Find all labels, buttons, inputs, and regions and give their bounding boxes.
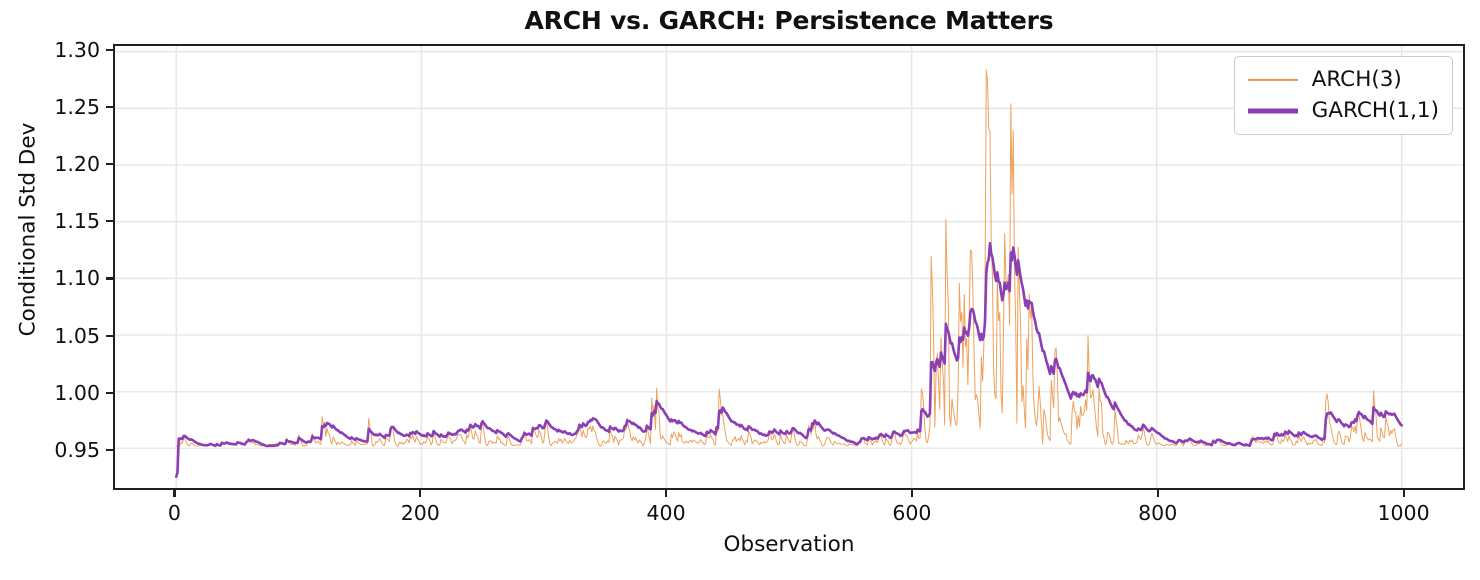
x-tick-label: 1000 <box>1344 503 1464 524</box>
x-tick-label: 800 <box>1098 503 1218 524</box>
chart-legend[interactable]: ARCH(3) GARCH(1,1) <box>1234 56 1453 135</box>
x-tick-label: 200 <box>360 503 480 524</box>
x-tick-label: 0 <box>114 503 234 524</box>
y-tick-label: 1.10 <box>8 268 100 289</box>
y-tick-mark <box>106 106 113 108</box>
x-tick-mark <box>911 490 913 497</box>
legend-swatch-garch <box>1248 104 1298 118</box>
y-tick-label: 1.30 <box>8 40 100 61</box>
y-tick-mark <box>106 49 113 51</box>
y-tick-label: 1.00 <box>8 383 100 404</box>
y-tick-label: 1.20 <box>8 154 100 175</box>
y-tick-label: 1.05 <box>8 326 100 347</box>
legend-item-garch[interactable]: GARCH(1,1) <box>1248 95 1439 126</box>
plot-area: ARCH(3) GARCH(1,1) <box>113 44 1465 490</box>
chart-title: ARCH vs. GARCH: Persistence Matters <box>113 6 1465 35</box>
x-tick-mark <box>173 490 175 497</box>
series-line-arch <box>176 70 1401 446</box>
x-axis-label: Observation <box>113 532 1465 557</box>
y-tick-mark <box>106 220 113 222</box>
legend-label-garch: GARCH(1,1) <box>1312 98 1439 123</box>
y-tick-label: 1.25 <box>8 97 100 118</box>
y-tick-label: 1.15 <box>8 211 100 232</box>
y-tick-mark <box>106 163 113 165</box>
y-tick-mark <box>106 335 113 337</box>
legend-label-arch: ARCH(3) <box>1312 67 1402 92</box>
legend-item-arch[interactable]: ARCH(3) <box>1248 64 1439 95</box>
x-tick-label: 400 <box>606 503 726 524</box>
x-tick-mark <box>665 490 667 497</box>
y-tick-mark <box>106 392 113 394</box>
y-tick-mark <box>106 449 113 451</box>
y-tick-label: 0.95 <box>8 440 100 461</box>
chart-figure: ARCH vs. GARCH: Persistence Matters Cond… <box>0 0 1480 580</box>
x-tick-mark <box>1403 490 1405 497</box>
x-tick-label: 600 <box>852 503 972 524</box>
legend-swatch-arch <box>1248 73 1298 87</box>
y-tick-mark <box>106 277 113 279</box>
x-tick-mark <box>419 490 421 497</box>
x-tick-mark <box>1157 490 1159 497</box>
